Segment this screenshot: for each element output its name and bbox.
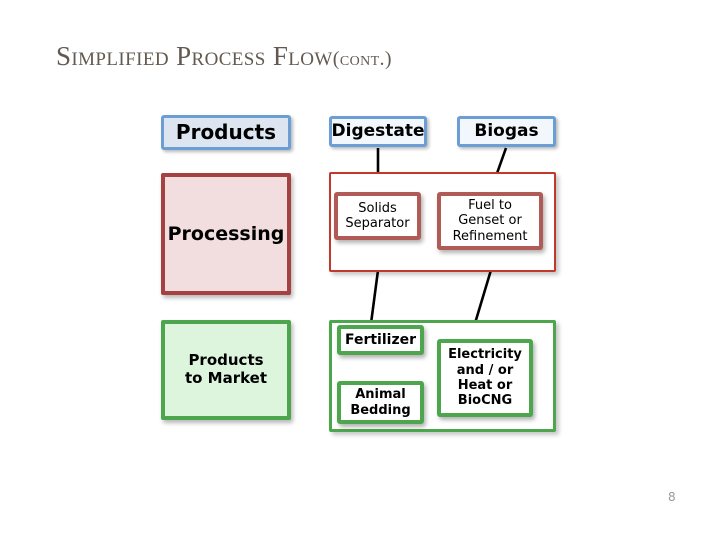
page-title-main: Simplified Process Flow (56, 41, 333, 71)
page-number: 8 (668, 490, 676, 504)
market-item-fertilizer[interactable]: Fertilizer (337, 325, 424, 355)
lead-box-products-to-market[interactable]: Products to Market (161, 320, 291, 420)
processing-item-solids-separator[interactable]: Solids Separator (334, 192, 421, 240)
lead-box-processing[interactable]: Processing (161, 173, 291, 295)
stage-box-biogas[interactable]: Biogas (457, 116, 556, 147)
stage-box-digestate[interactable]: Digestate (329, 116, 427, 147)
lead-box-products[interactable]: Products (161, 115, 291, 150)
page-title: Simplified Process Flow(cont.) (56, 41, 392, 72)
processing-item-fuel-to-genset[interactable]: Fuel to Genset or Refinement (437, 192, 543, 250)
market-item-animal-bedding[interactable]: Animal Bedding (337, 381, 424, 424)
market-item-electricity[interactable]: Electricity and / or Heat or BioCNG (437, 339, 533, 417)
page-title-continuation: (cont.) (333, 48, 392, 70)
